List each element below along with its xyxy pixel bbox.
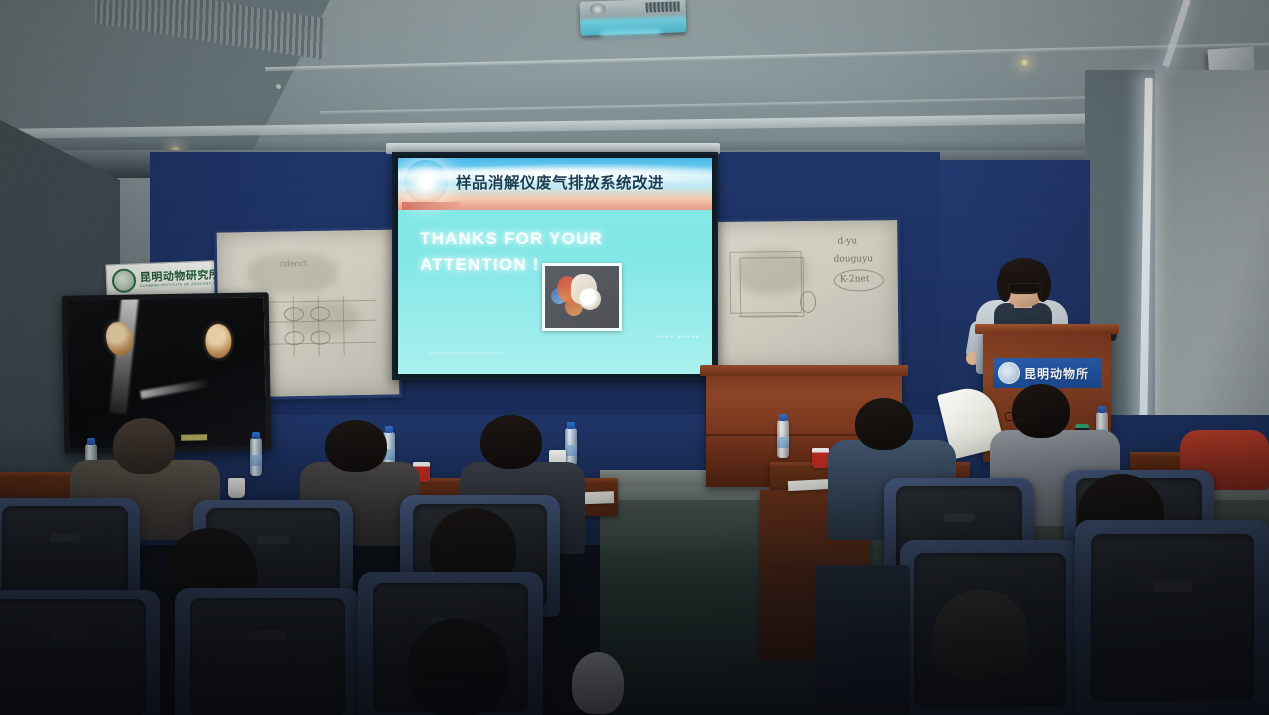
slide-title: 样品消解仪废气排放系统改进 (456, 171, 664, 193)
slide-ribbon (402, 202, 460, 210)
podium-sign-label: 昆明动物所 (1024, 365, 1089, 382)
projection-screen: 样品消解仪废气排放系统改进 THANKS FOR YOUR ATTENTION … (392, 152, 718, 380)
slide-content: 样品消解仪废气排放系统改进 THANKS FOR YOUR ATTENTION … (398, 158, 712, 374)
thanks-line-1: THANKS FOR YOUR (420, 226, 603, 252)
podium-sign: 昆明动物所 (993, 358, 1101, 388)
whiteboard-hand-line-2: douguyu (834, 254, 874, 264)
projector-vent (646, 1, 680, 12)
slide-credit-text: •••• ••••• (656, 334, 700, 341)
institute-logo-icon (112, 268, 137, 293)
tv-reflection (140, 379, 210, 399)
institute-seal-icon (998, 362, 1020, 384)
whiteboard-faint-note: ridenct (279, 259, 307, 268)
institute-name-en: KUNMING INSTITUTE OF ZOOLOGY, CAS (140, 282, 222, 289)
projector-lens (590, 3, 606, 16)
slide-footer-text: •••••••••••••••••••• (428, 351, 505, 357)
golden-ornament-reflection (204, 323, 233, 359)
dandelion-icon (404, 160, 448, 204)
slide-photo (542, 263, 622, 331)
ceiling-projector (579, 0, 686, 36)
whiteboard-right: d-yu douguyu K-2net (704, 217, 902, 373)
whiteboard-hand-line-1: d-yu (837, 236, 857, 246)
ceiling-fixture (276, 84, 281, 89)
cabinet-top (700, 365, 908, 376)
podium-top (975, 324, 1119, 334)
glasses-icon (1008, 283, 1042, 293)
photo-lower-shadow (0, 430, 1269, 715)
flower-center (579, 288, 601, 310)
spotlight-icon (1020, 58, 1029, 67)
glasses-icon (1005, 412, 1033, 421)
conference-room-photo: 昆明动物研究所 KUNMING INSTITUTE OF ZOOLOGY, CA… (0, 0, 1269, 715)
